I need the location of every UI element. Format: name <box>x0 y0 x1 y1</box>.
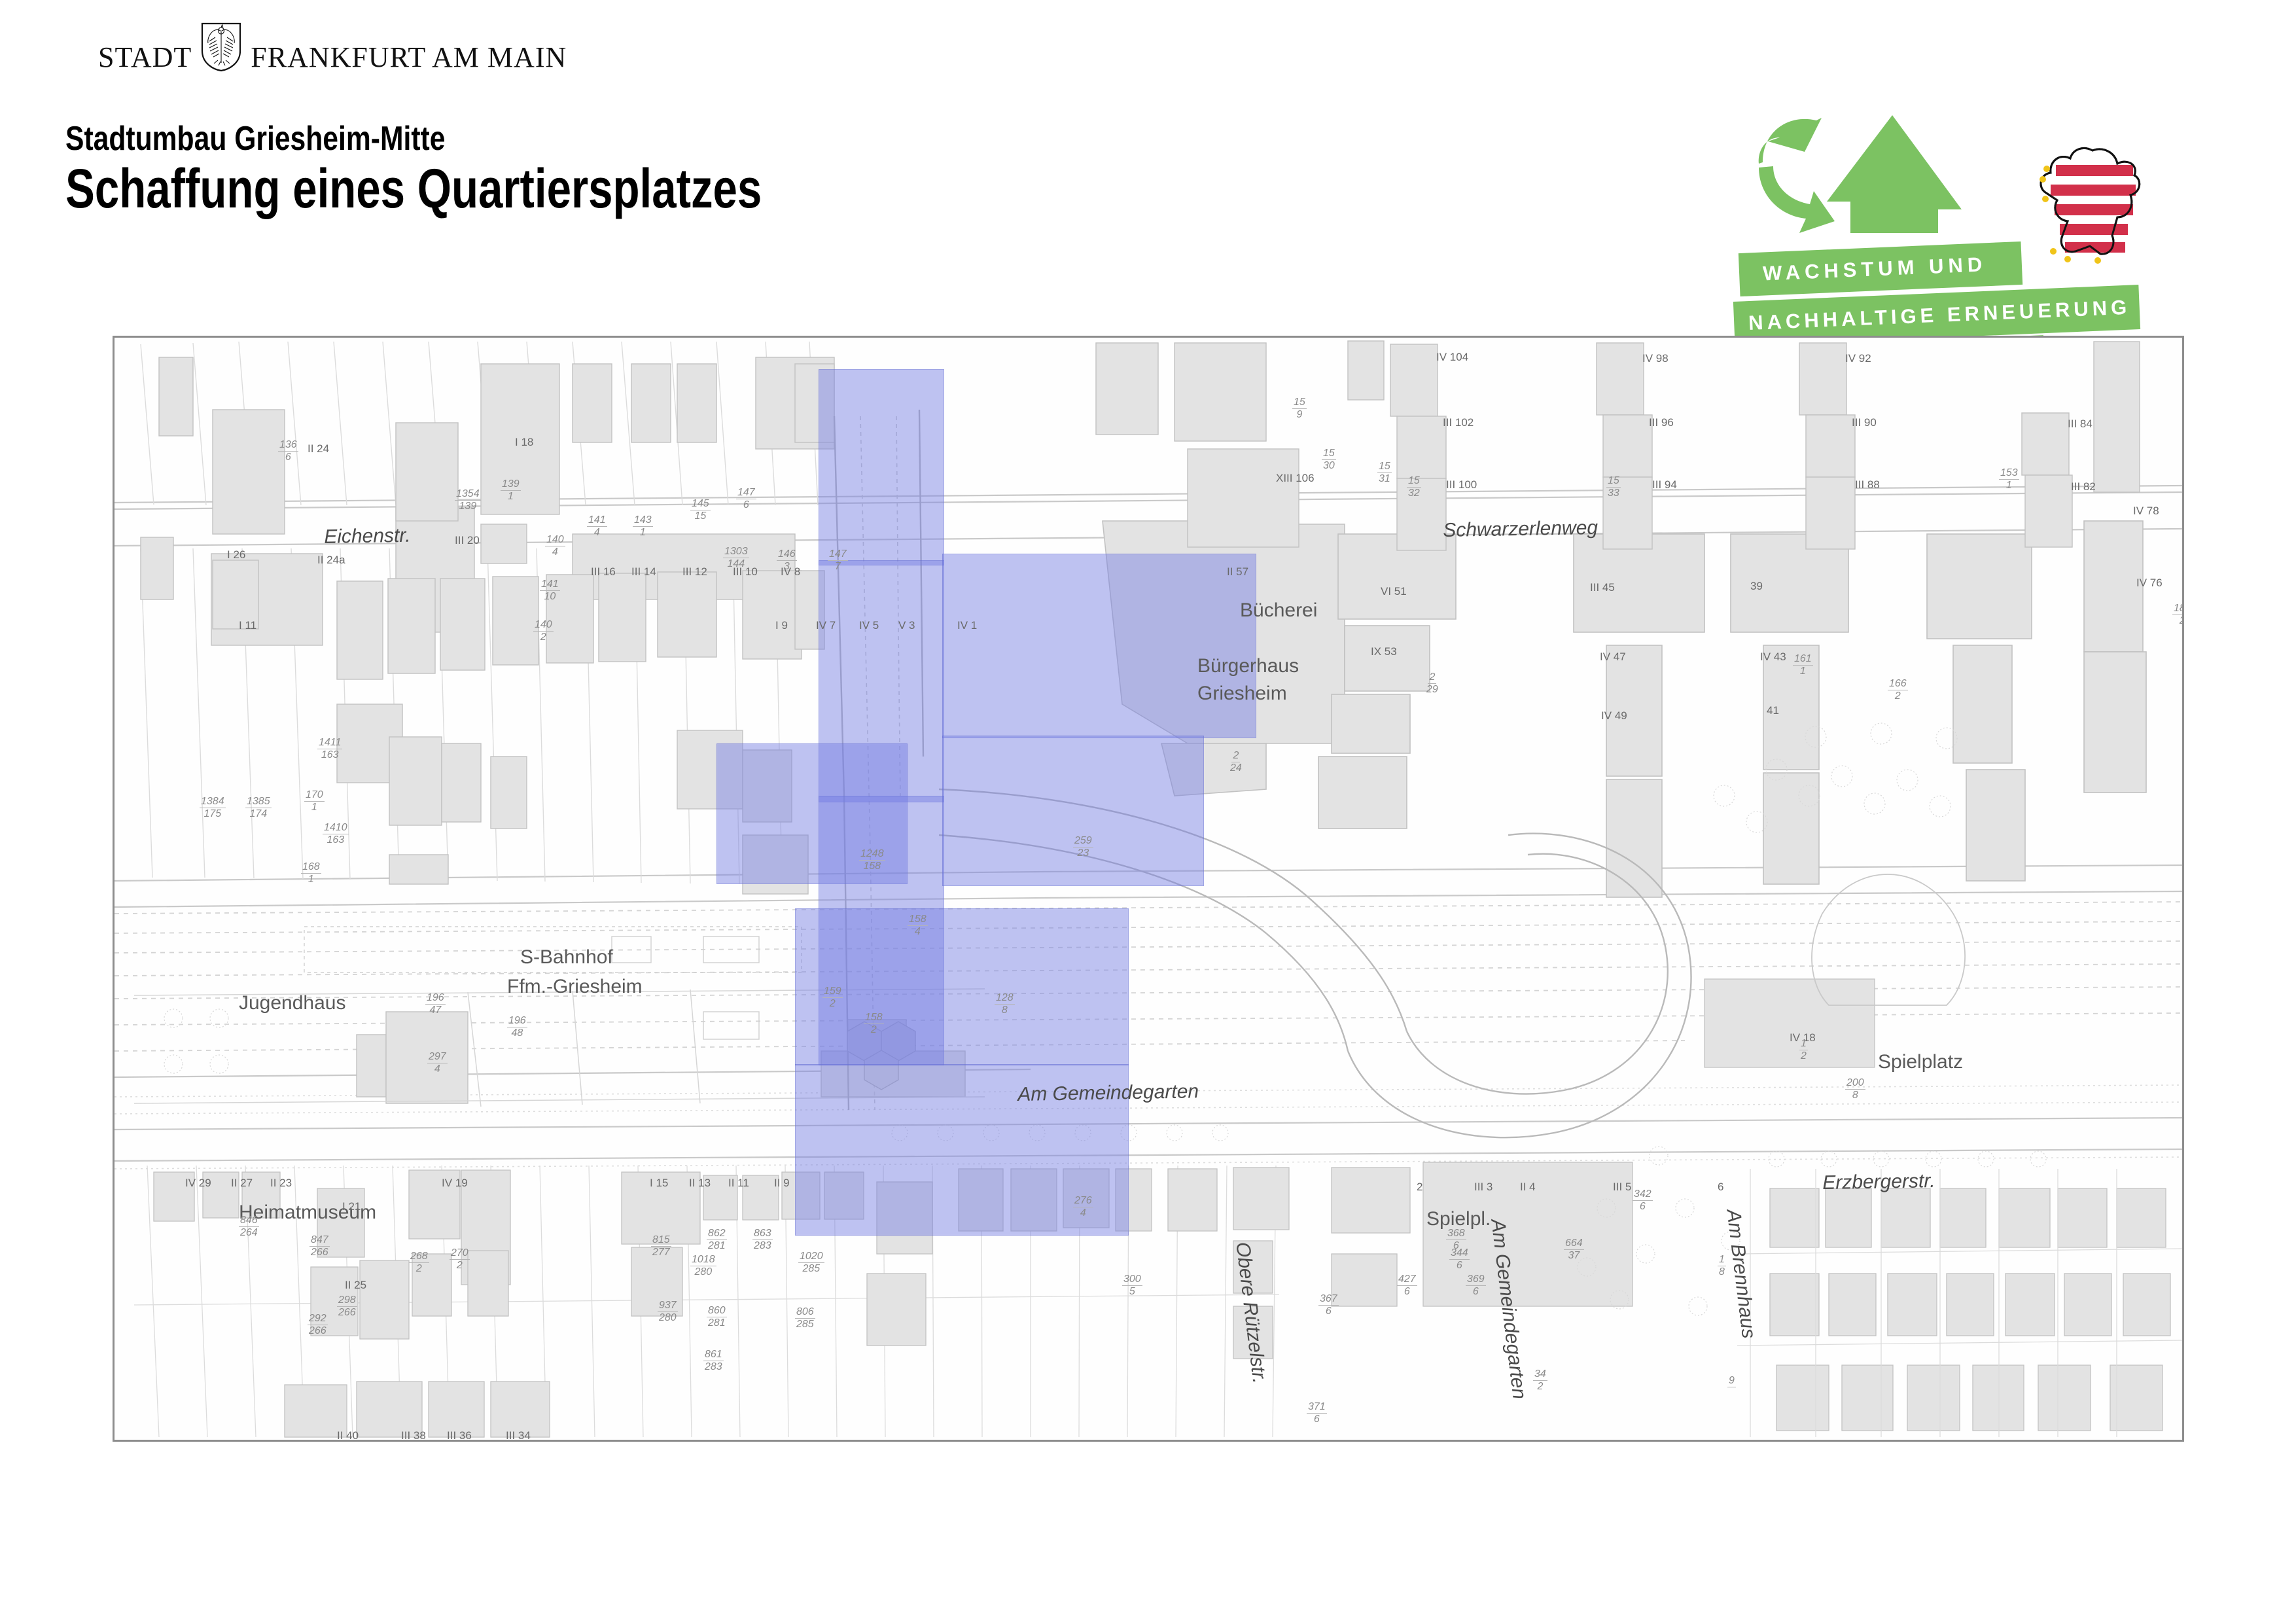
map-house-number: IV 78 <box>2133 505 2159 518</box>
map-parcel-number: 1532 <box>1407 475 1421 499</box>
map-poi-label: Ffm.-Griesheim <box>507 976 643 998</box>
map-street-label: Am Gemeindegarten <box>1017 1080 1199 1106</box>
map-parcel-number: 14110 <box>540 579 560 603</box>
map-parcel-number: 19648 <box>507 1015 527 1039</box>
map-parcel-number: 292266 <box>308 1313 328 1337</box>
map-house-number: III 96 <box>1649 416 1674 429</box>
map-house-number: III 38 <box>401 1429 426 1442</box>
map-house-number: 39 <box>1750 580 1763 593</box>
map-house-number: III 36 <box>447 1429 472 1442</box>
map-house-number: IV 5 <box>859 619 879 632</box>
map-house-number: II 4 <box>1520 1181 1536 1194</box>
map-parcel-number: 19647 <box>425 992 446 1016</box>
map-house-number: III 20 <box>455 534 480 547</box>
map-parcel-number: 861283 <box>703 1349 724 1373</box>
city-logo-word-frankfurt: FRANKFURT AM MAIN <box>251 43 567 72</box>
map-parcel-number: 1020285 <box>798 1251 824 1275</box>
map-parcel-number: 159 <box>1292 397 1307 421</box>
hessen-lion-icon <box>2030 136 2154 267</box>
map-parcel-number: 1812 <box>2172 603 2184 627</box>
map-street-label: Erzbergerstr. <box>1822 1170 1935 1194</box>
map-house-number: II 23 <box>270 1177 292 1190</box>
map-house-number: III 102 <box>1443 416 1474 429</box>
map-house-number: III 5 <box>1613 1181 1631 1194</box>
map-parcel-number: 3696 <box>1466 1274 1486 1298</box>
map-parcel-number: 1384175 <box>200 796 226 820</box>
map-canvas: Eichenstr.SchwarzerlenwegErzbergerstr.Am… <box>115 338 2182 1440</box>
poster-page: STADT FRANKFURT AM MAIN Stadtumbau Gries… <box>0 0 2296 1623</box>
city-logo-word-stadt: STADT <box>98 43 192 72</box>
highlight-zone-station-block <box>795 908 1129 1065</box>
map-house-number: IV 19 <box>442 1177 468 1190</box>
map-parcel-number: 4276 <box>1397 1274 1417 1298</box>
footer-logo-bar: Bundesministerium für Wohnen, Stadtentwi… <box>0 1472 2296 1623</box>
map-poi-label: Griesheim <box>1197 683 1287 705</box>
map-house-number: IV 49 <box>1601 709 1627 722</box>
map-parcel-number: 1477 <box>828 548 848 573</box>
map-parcel-number: 14515 <box>690 498 711 522</box>
map-parcel-number: 806285 <box>795 1306 815 1330</box>
map-parcel-number: 3426 <box>1633 1188 1653 1213</box>
map-parcel-number: 1414 <box>587 514 607 539</box>
map-parcel-number: 1018280 <box>690 1254 716 1278</box>
map-house-number: III 3 <box>1474 1181 1492 1194</box>
cadastral-map[interactable]: Eichenstr.SchwarzerlenwegErzbergerstr.Am… <box>113 336 2184 1442</box>
map-parcel-number: 1584 <box>908 914 928 938</box>
map-parcel-number: 1391 <box>501 478 521 503</box>
map-parcel-number: 1681 <box>301 861 321 885</box>
map-house-number: XIII 106 <box>1276 472 1315 485</box>
map-parcel-number: 1366 <box>278 439 298 463</box>
map-house-number: III 12 <box>682 565 707 579</box>
map-parcel-number: 3446 <box>1449 1247 1470 1272</box>
map-house-number: III 82 <box>2071 480 2096 493</box>
map-parcel-number: 3005 <box>1122 1274 1142 1298</box>
map-poi-label: S-Bahnhof <box>520 946 613 969</box>
map-parcel-number: 1476 <box>736 487 756 511</box>
map-house-number: II 25 <box>345 1279 366 1292</box>
map-parcel-number: 12 <box>1799 1038 1808 1062</box>
map-house-number: IV 7 <box>816 619 836 632</box>
map-parcel-number: 3716 <box>1307 1401 1327 1425</box>
map-parcel-number: 1662 <box>1888 678 1908 702</box>
map-parcel-number: 860281 <box>707 1305 727 1329</box>
map-house-number: III 45 <box>1590 581 1615 594</box>
map-parcel-number: 1411163 <box>317 737 342 761</box>
map-house-number: III 90 <box>1852 416 1877 429</box>
map-house-number: III 14 <box>631 565 656 579</box>
map-parcel-number: 1582 <box>864 1012 884 1036</box>
map-house-number: IV 47 <box>1600 651 1626 664</box>
map-house-number: IV 104 <box>1436 351 1468 364</box>
highlight-zone-north-strip <box>819 369 944 565</box>
map-street-label: Eichenstr. <box>324 525 411 548</box>
map-parcel-number: 229 <box>1426 671 1438 696</box>
highlight-zone-east-arm <box>942 554 1256 738</box>
map-house-number: 6 <box>1718 1181 1723 1194</box>
map-parcel-number: 1701 <box>304 789 325 813</box>
map-house-number: I 26 <box>227 548 245 562</box>
page-title: Schaffung eines Quartiersplatzes <box>65 157 762 221</box>
map-parcel-number: 862281 <box>707 1228 727 1252</box>
map-parcel-number: 1248158 <box>859 848 885 872</box>
map-house-number: 41 <box>1767 704 1779 717</box>
map-parcel-number: 2702 <box>450 1247 470 1272</box>
map-parcel-number: 1410163 <box>323 822 349 846</box>
map-house-number: IV 43 <box>1760 651 1786 664</box>
map-parcel-number: 1611 <box>1793 653 1813 677</box>
map-house-number: II 40 <box>337 1429 359 1442</box>
map-parcel-number: 1592 <box>822 986 843 1010</box>
frankfurt-eagle-crest-icon <box>201 22 241 72</box>
map-house-number: IX 53 <box>1371 645 1397 658</box>
map-house-number: VI 51 <box>1381 585 1407 598</box>
map-parcel-number: 1385174 <box>245 796 272 820</box>
map-house-number: I 21 <box>342 1200 361 1213</box>
map-house-number: II 27 <box>231 1177 253 1190</box>
highlight-zone-curve-east <box>942 736 1204 886</box>
map-house-number: II 24a <box>317 554 345 567</box>
map-parcel-number: 25923 <box>1073 835 1093 859</box>
city-of-frankfurt-logo: STADT FRANKFURT AM MAIN <box>98 25 567 72</box>
map-parcel-number: 9 <box>1727 1375 1736 1387</box>
map-parcel-number: 18 <box>1718 1254 1726 1278</box>
map-house-number: IV 92 <box>1845 352 1871 365</box>
map-poi-label: Spielplatz <box>1878 1051 1963 1073</box>
map-parcel-number: 1402 <box>533 619 554 643</box>
map-house-number: IV 98 <box>1642 352 1669 365</box>
map-poi-label: Jugendhaus <box>239 992 345 1014</box>
green-house-arrow-icon <box>1754 111 2035 262</box>
map-street-label: Schwarzerlenweg <box>1443 517 1598 542</box>
map-parcel-number: 224 <box>1230 750 1242 774</box>
map-poi-label: Bürgerhaus <box>1197 655 1299 677</box>
map-parcel-number: 2974 <box>427 1051 448 1075</box>
map-parcel-number: 1288 <box>995 992 1015 1016</box>
map-house-number: III 84 <box>2068 418 2093 431</box>
map-house-number: I 9 <box>775 619 788 632</box>
map-parcel-number: 863283 <box>752 1228 773 1252</box>
map-parcel-number: 2682 <box>409 1251 429 1275</box>
map-parcel-number: 815277 <box>651 1234 671 1258</box>
map-house-number: III 16 <box>591 565 616 579</box>
map-parcel-number: 847266 <box>309 1234 330 1258</box>
map-house-number: V 3 <box>898 619 915 632</box>
map-parcel-number: 1463 <box>777 548 797 573</box>
map-parcel-number: 937280 <box>658 1300 678 1324</box>
map-parcel-number: 3676 <box>1318 1293 1339 1317</box>
map-house-number: II 24 <box>308 442 329 455</box>
map-house-number: III 100 <box>1446 478 1477 491</box>
map-poi-label: Spielpl. <box>1426 1208 1491 1230</box>
map-parcel-number: 1431 <box>633 514 653 539</box>
map-parcel-number: 1303144 <box>723 546 749 570</box>
map-house-number: III 88 <box>1855 478 1880 491</box>
map-house-number: I 11 <box>239 619 256 632</box>
map-parcel-number: 1404 <box>545 534 565 558</box>
map-parcel-number: 342 <box>1533 1368 1547 1393</box>
map-house-number: II 11 <box>728 1177 749 1190</box>
map-house-number: 2 <box>1417 1181 1422 1194</box>
map-house-number: II 57 <box>1227 565 1248 579</box>
map-house-number: II 13 <box>689 1177 711 1190</box>
map-parcel-number: 66437 <box>1564 1238 1584 1262</box>
map-parcel-number: 2008 <box>1845 1077 1865 1101</box>
map-house-number: I 15 <box>650 1177 668 1190</box>
map-house-number: II 9 <box>774 1177 790 1190</box>
map-parcel-number: 1530 <box>1322 448 1336 472</box>
map-house-number: I 18 <box>515 436 533 449</box>
map-parcel-number: 298266 <box>337 1294 357 1319</box>
map-house-number: III 34 <box>506 1429 531 1442</box>
map-parcel-number: 2764 <box>1073 1195 1093 1219</box>
map-poi-label: Bücherei <box>1240 599 1317 622</box>
map-parcel-number: 1354139 <box>455 488 481 512</box>
map-parcel-number: 1531 <box>1999 467 2019 491</box>
map-parcel-number: 1531 <box>1377 461 1392 485</box>
poster-subtitle: Stadtumbau Griesheim-Mitte <box>65 119 445 158</box>
map-parcel-number: 846264 <box>239 1215 259 1239</box>
map-house-number: III 94 <box>1652 478 1677 491</box>
map-house-number: IV 76 <box>2136 577 2163 590</box>
map-parcel-number: 1533 <box>1606 475 1621 499</box>
map-house-number: IV 29 <box>185 1177 211 1190</box>
map-house-number: IV 1 <box>957 619 977 632</box>
